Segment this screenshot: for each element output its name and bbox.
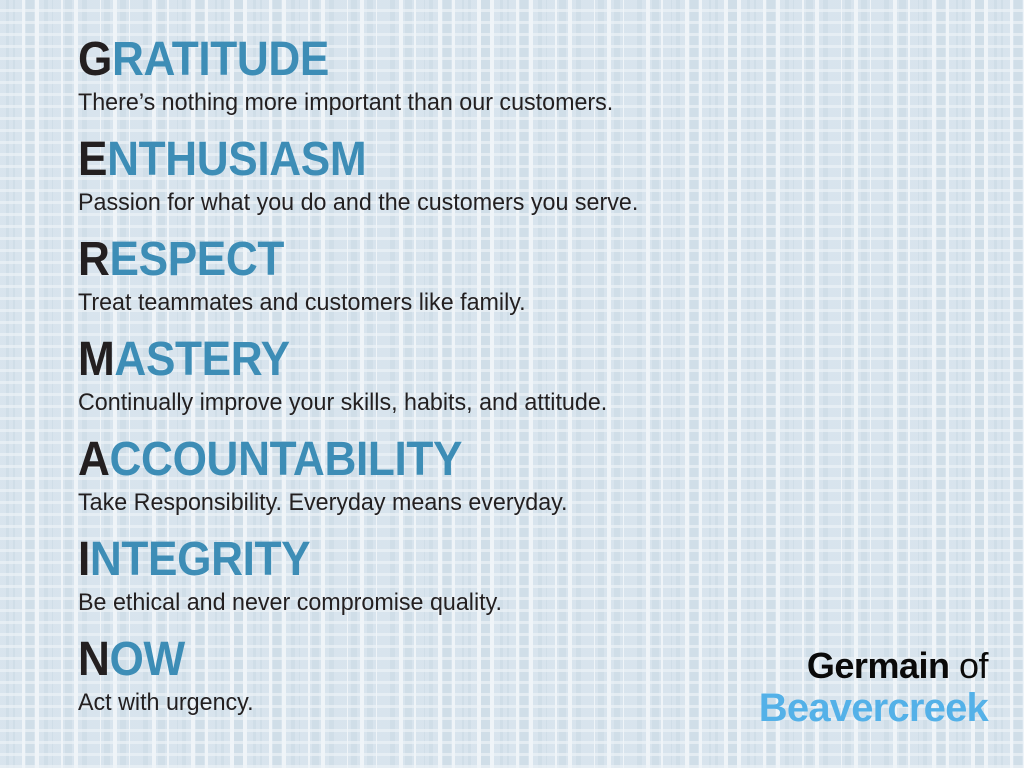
value-block-mastery: MASTERY Continually improve your skills,… [78, 334, 998, 434]
logo-location-name: Beavercreek [759, 686, 988, 730]
value-heading-remainder: NTHUSIASM [107, 133, 366, 186]
value-description-integrity: Be ethical and never compromise quality. [78, 586, 970, 618]
value-block-integrity: INTEGRITY Be ethical and never compromis… [78, 534, 998, 634]
value-initial-letter: A [78, 433, 110, 486]
logo-connector-word: of [949, 645, 988, 686]
value-heading-remainder: NTEGRITY [90, 533, 310, 586]
value-block-respect: RESPECT Treat teammates and customers li… [78, 234, 998, 334]
value-initial-letter: M [78, 333, 114, 386]
value-heading-accountability: ACCOUNTABILITY [78, 434, 924, 486]
value-heading-integrity: INTEGRITY [78, 534, 924, 586]
value-block-accountability: ACCOUNTABILITY Take Responsibility. Ever… [78, 434, 998, 534]
logo-brand-name: Germain [807, 645, 950, 686]
value-heading-gratitude: GRATITUDE [78, 34, 924, 86]
value-heading-remainder: ESPECT [110, 233, 284, 286]
value-block-enthusiasm: ENTHUSIASM Passion for what you do and t… [78, 134, 998, 234]
core-values-list: GRATITUDE There’s nothing more important… [78, 34, 998, 734]
value-heading-respect: RESPECT [78, 234, 924, 286]
value-description-enthusiasm: Passion for what you do and the customer… [78, 186, 970, 218]
value-initial-letter: R [78, 233, 110, 286]
value-initial-letter: G [78, 33, 112, 86]
value-initial-letter: E [78, 133, 107, 186]
dealership-logo: Germain of Beavercreek [759, 646, 988, 730]
value-description-mastery: Continually improve your skills, habits,… [78, 386, 970, 418]
value-heading-remainder: CCOUNTABILITY [110, 433, 463, 486]
values-slide: GRATITUDE There’s nothing more important… [0, 0, 1024, 768]
logo-primary-line: Germain of [759, 646, 988, 686]
value-initial-letter: I [78, 533, 90, 586]
value-block-gratitude: GRATITUDE There’s nothing more important… [78, 34, 998, 134]
value-heading-remainder: ASTERY [114, 333, 289, 386]
value-description-respect: Treat teammates and customers like famil… [78, 286, 970, 318]
value-heading-mastery: MASTERY [78, 334, 924, 386]
value-heading-remainder: OW [110, 633, 185, 686]
value-description-gratitude: There’s nothing more important than our … [78, 86, 970, 118]
value-initial-letter: N [78, 633, 110, 686]
value-description-accountability: Take Responsibility. Everyday means ever… [78, 486, 970, 518]
value-heading-remainder: RATITUDE [112, 33, 329, 86]
value-heading-enthusiasm: ENTHUSIASM [78, 134, 924, 186]
